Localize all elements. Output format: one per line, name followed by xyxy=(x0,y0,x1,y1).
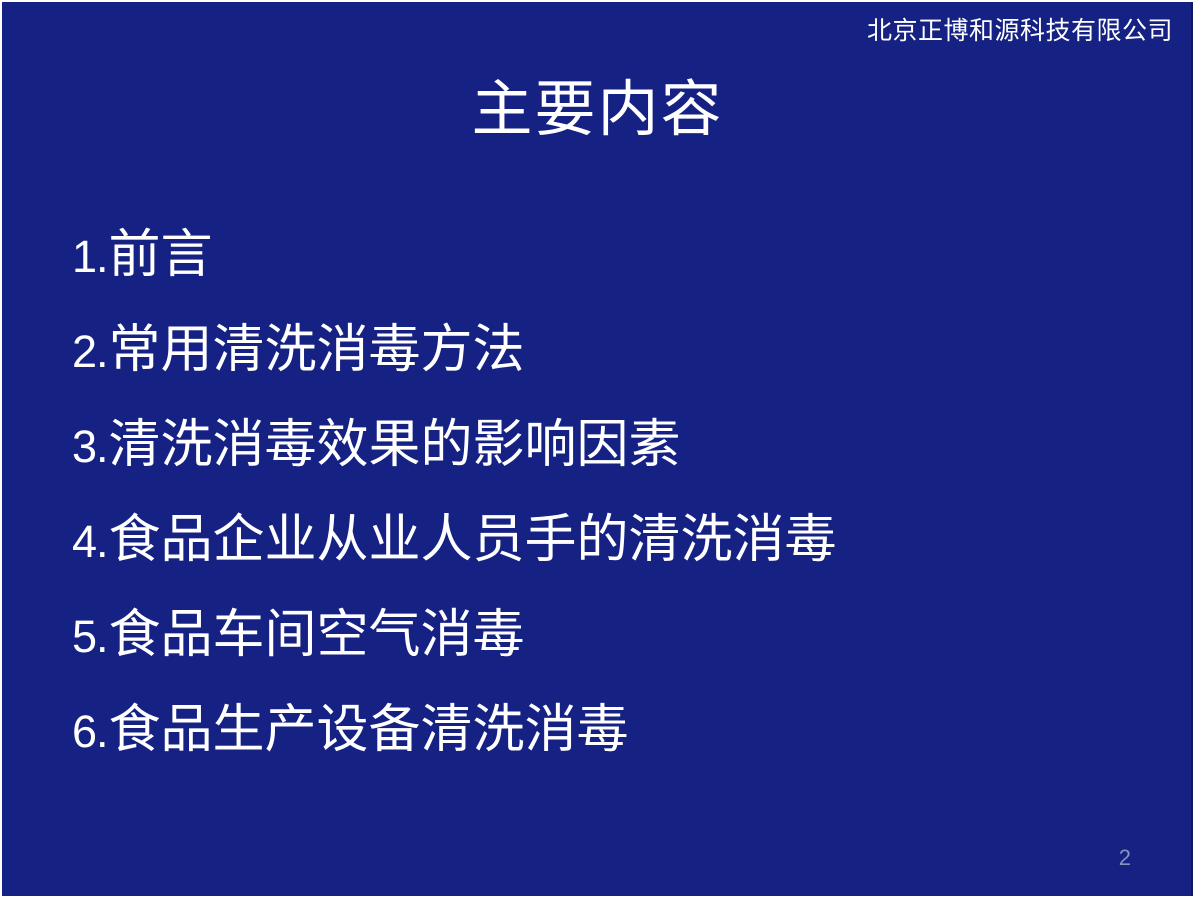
list-item-label: 食品企业从业人员手的清洗消毒 xyxy=(109,514,837,566)
list-item-number: 3. xyxy=(72,424,109,469)
list-item[interactable]: 2. 常用清洗消毒方法 xyxy=(72,324,1152,419)
list-item[interactable]: 4. 食品企业从业人员手的清洗消毒 xyxy=(72,514,1152,609)
page-title: 主要内容 xyxy=(2,75,1193,145)
list-item-number: 2. xyxy=(72,329,109,374)
list-item-label: 食品车间空气消毒 xyxy=(109,609,525,661)
page-number: 2 xyxy=(1119,847,1131,869)
list-item-label: 常用清洗消毒方法 xyxy=(109,324,525,376)
list-item-number: 6. xyxy=(72,709,109,754)
list-item[interactable]: 3. 清洗消毒效果的影响因素 xyxy=(72,419,1152,514)
list-item-number: 1. xyxy=(72,234,109,279)
slide-canvas: 北京正博和源科技有限公司 主要内容 1. 前言 2. 常用清洗消毒方法 3. 清… xyxy=(2,2,1193,896)
list-item-label: 食品生产设备清洗消毒 xyxy=(109,704,629,756)
list-item[interactable]: 5. 食品车间空气消毒 xyxy=(72,609,1152,704)
agenda-list: 1. 前言 2. 常用清洗消毒方法 3. 清洗消毒效果的影响因素 4. 食品企业… xyxy=(72,229,1152,799)
list-item[interactable]: 1. 前言 xyxy=(72,229,1152,324)
company-header: 北京正博和源科技有限公司 xyxy=(867,18,1173,43)
list-item-label: 清洗消毒效果的影响因素 xyxy=(109,419,681,471)
list-item-number: 4. xyxy=(72,519,109,564)
list-item-label: 前言 xyxy=(109,229,213,281)
list-item[interactable]: 6. 食品生产设备清洗消毒 xyxy=(72,704,1152,799)
list-item-number: 5. xyxy=(72,614,109,659)
